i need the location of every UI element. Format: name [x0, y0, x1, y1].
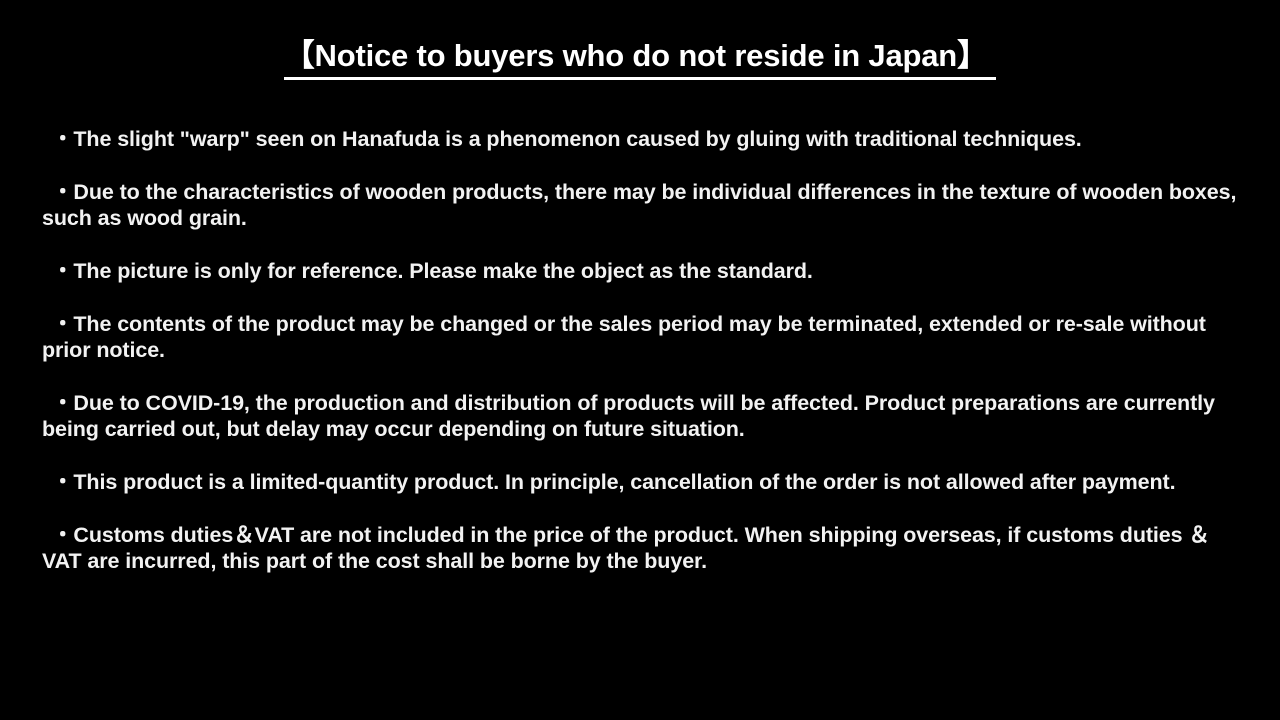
list-item: ・This product is a limited-quantity prod…: [42, 469, 1238, 495]
list-item: ・Due to the characteristics of wooden pr…: [42, 179, 1238, 231]
notice-list: ・The slight "warp" seen on Hanafuda is a…: [42, 104, 1238, 574]
list-item: ・The slight "warp" seen on Hanafuda is a…: [42, 126, 1238, 152]
list-item: ・Customs duties＆VAT are not included in …: [42, 522, 1238, 574]
page-title: 【Notice to buyers who do not reside in J…: [284, 37, 997, 80]
list-item: ・The picture is only for reference. Plea…: [42, 258, 1238, 284]
list-item: ・Due to COVID-19, the production and dis…: [42, 390, 1238, 442]
title-container: 【Notice to buyers who do not reside in J…: [0, 16, 1280, 101]
list-item: ・The contents of the product may be chan…: [42, 311, 1238, 363]
notice-slide: 【Notice to buyers who do not reside in J…: [0, 0, 1280, 720]
